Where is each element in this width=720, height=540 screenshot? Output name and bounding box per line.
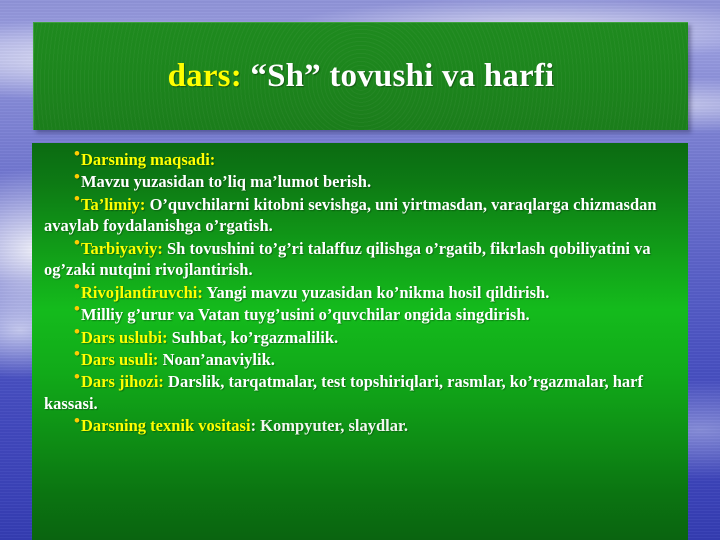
- title-rest-text: “Sh” tovushi va harfi: [242, 58, 554, 94]
- bullet-term: Dars uslubi:: [81, 328, 168, 347]
- bullet-term: Rivojlantiruvchi:: [81, 283, 203, 302]
- bullet-item: •Tarbiyaviy: Sh tovushini to’g’ri talaff…: [44, 238, 676, 281]
- bullet-list: •Darsning maqsadi:•Mavzu yuzasidan to’li…: [44, 149, 676, 437]
- bullet-term: Tarbiyaviy:: [81, 239, 163, 258]
- bullet-term: Dars usuli:: [81, 350, 158, 369]
- bullet-item: •Dars usuli: Noan’anaviylik.: [44, 349, 676, 370]
- bullet-dot-icon: •: [74, 189, 80, 208]
- bullet-term: Darsning maqsadi:: [81, 150, 215, 169]
- bullet-item: •Milliy g’urur va Vatan tuyg’usini o’quv…: [44, 304, 676, 325]
- bullet-item: •Ta’limiy: O’quvchilarni kitobni sevishg…: [44, 194, 676, 237]
- title-highlight-text: dars:: [168, 58, 242, 94]
- bullet-item: •Darsning texnik vositasi: Kompyuter, sl…: [44, 415, 676, 436]
- bullet-dot-icon: •: [74, 167, 80, 186]
- bullet-dot-icon: •: [74, 144, 80, 163]
- bullet-text: Yangi mavzu yuzasidan ko’nikma hosil qil…: [203, 283, 549, 302]
- bullet-dot-icon: •: [74, 322, 80, 341]
- bullet-item: •Rivojlantiruvchi: Yangi mavzu yuzasidan…: [44, 282, 676, 303]
- bullet-term: Ta’limiy:: [81, 195, 145, 214]
- bullet-text: Noan’anaviylik.: [158, 350, 274, 369]
- presentation-slide: dars: “Sh” tovushi va harfi •Darsning ma…: [0, 0, 720, 540]
- bullet-term: Darsning texnik vositasi: [81, 416, 251, 435]
- bullet-dot-icon: •: [74, 411, 80, 430]
- bullet-item: •Darsning maqsadi:: [44, 149, 676, 170]
- bullet-text: Milliy g’urur va Vatan tuyg’usini o’quvc…: [81, 305, 530, 324]
- slide-title-box: dars: “Sh” tovushi va harfi: [33, 22, 688, 130]
- bullet-item: •Dars jihozi: Darslik, tarqatmalar, test…: [44, 371, 676, 414]
- bullet-dot-icon: •: [74, 277, 80, 296]
- bullet-term: Dars jihozi:: [81, 372, 164, 391]
- bullet-text: Suhbat, ko’rgazmalilik.: [168, 328, 339, 347]
- bullet-item: •Dars uslubi: Suhbat, ko’rgazmalilik.: [44, 327, 676, 348]
- bullet-dot-icon: •: [74, 299, 80, 318]
- bullet-text: Mavzu yuzasidan to’liq ma’lumot berish.: [81, 172, 371, 191]
- bullet-text: : Kompyuter, slaydlar.: [251, 416, 408, 435]
- slide-content-box: •Darsning maqsadi:•Mavzu yuzasidan to’li…: [32, 143, 688, 540]
- bullet-dot-icon: •: [74, 367, 80, 386]
- bullet-dot-icon: •: [74, 233, 80, 252]
- page-title: dars: “Sh” tovushi va harfi: [168, 58, 555, 95]
- bullet-dot-icon: •: [74, 344, 80, 363]
- bullet-item: •Mavzu yuzasidan to’liq ma’lumot berish.: [44, 171, 676, 192]
